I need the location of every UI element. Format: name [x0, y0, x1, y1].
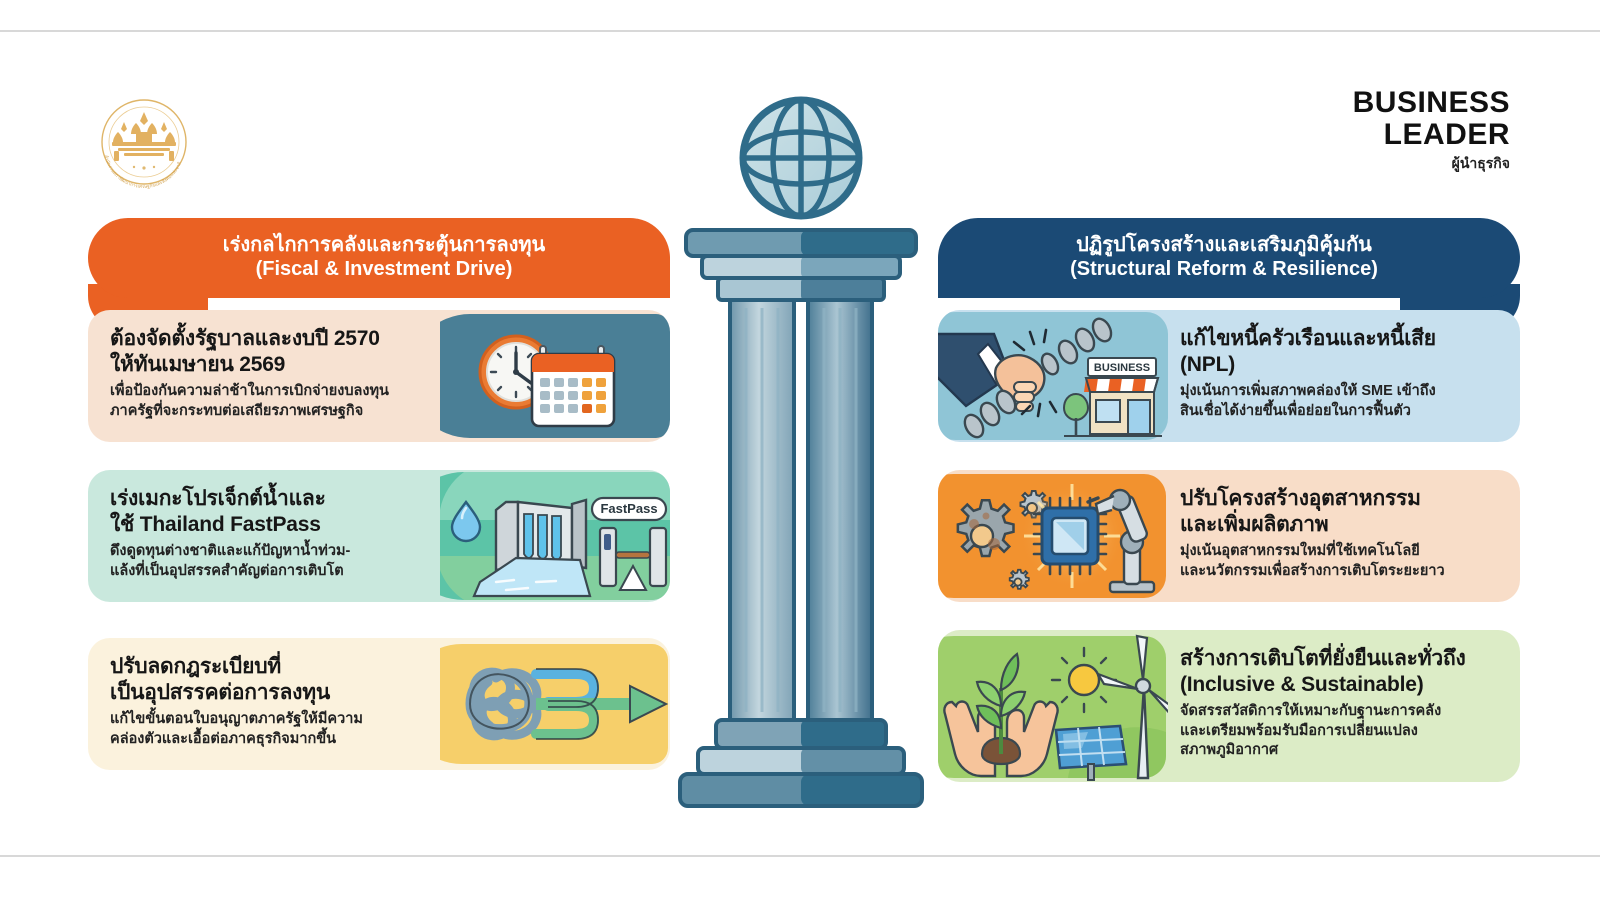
card-title: ต้องจัดตั้งรัฐบาลและงบปี 2570ให้ทันเมษาย… [110, 326, 422, 377]
card-text-block: ต้องจัดตั้งรัฐบาลและงบปี 2570ให้ทันเมษาย… [88, 310, 440, 442]
brand-lockup: BUSINESS LEADER ผู้นำธุรกิจ [1353, 88, 1510, 170]
dam-fastpass-illustration: FastPass [440, 470, 670, 602]
card-body: จัดสรรสวัสดิการให้เหมาะกับฐานะการคลังและ… [1180, 702, 1494, 760]
fastpass-label: FastPass [600, 501, 657, 516]
card-body: แก้ไขขั้นตอนใบอนุญาตภาครัฐให้มีความคล่อง… [110, 710, 422, 749]
brand-line-1: BUSINESS [1353, 88, 1510, 118]
top-divider [0, 30, 1600, 32]
card-title: แก้ไขหนี้ครัวเรือนและหนี้เสีย(NPL) [1180, 326, 1494, 377]
clock-calendar-illustration [440, 310, 670, 442]
globe-icon [743, 100, 859, 216]
card-title: ปรับโครงสร้างอุตสาหกรรมและเพิ่มผลิตภาพ [1180, 486, 1494, 537]
card-body: เพื่อป้องกันความล่าช้าในการเบิกจ่ายงบลงท… [110, 382, 422, 421]
card-right-industry-productivity[interactable]: ปรับโครงสร้างอุตสาหกรรมและเพิ่มผลิตภาพ ม… [938, 470, 1520, 602]
card-body: ดึงดูดทุนต่างชาติและแก้ปัญหาน้ำท่วม-แล้ง… [110, 542, 422, 581]
banner-left-english: (Fiscal & Investment Drive) [223, 258, 545, 282]
banner-right-thai: ปฏิรูปโครงสร้างและเสริมภูมิคุ้มกัน [1070, 234, 1378, 258]
card-left-deregulation[interactable]: ปรับลดกฎระเบียบที่เป็นอุปสรรคต่อการลงทุน… [88, 638, 670, 770]
card-left-budget-deadline[interactable]: ต้องจัดตั้งรัฐบาลและงบปี 2570ให้ทันเมษาย… [88, 310, 670, 442]
business-label: BUSINESS [1094, 362, 1150, 374]
card-body: มุ่งเน้นการเพิ่มสภาพคล่องให้ SME เข้าถึง… [1180, 382, 1494, 421]
card-title: ปรับลดกฎระเบียบที่เป็นอุปสรรคต่อการลงทุน [110, 654, 422, 705]
card-text-block: แก้ไขหนี้ครัวเรือนและหนี้เสีย(NPL) มุ่งเ… [1168, 310, 1520, 442]
card-right-inclusive-sustainable[interactable]: สร้างการเติบโตที่ยั่งยืนและทั่วถึง(Inclu… [938, 630, 1520, 782]
plant-hands-solar-wind-illustration [938, 630, 1168, 782]
infographic-canvas: สำนักงานสภาพัฒนาการเศรษฐกิจและสังคมแห่งช… [0, 0, 1600, 900]
central-pillar-graphic [646, 90, 956, 820]
card-text-block: เร่งเมกะโปรเจ็กต์น้ำและใช้ Thailand Fast… [88, 470, 440, 602]
banner-structural-reform-resilience[interactable]: ปฏิรูปโครงสร้างและเสริมภูมิคุ้มกัน (Stru… [938, 218, 1520, 298]
card-body: มุ่งเน้นอุตสาหกรรมใหม่ที่ใช้เทคโนโลยีและ… [1180, 542, 1494, 581]
brand-thai-subtitle: ผู้นำธุรกิจ [1353, 156, 1510, 170]
banner-left-thai: เร่งกลไกการคลังและกระตุ้นการลงทุน [223, 234, 545, 258]
banner-right-english: (Structural Reform & Resilience) [1070, 258, 1378, 282]
bottom-divider [0, 855, 1600, 857]
gear-icon-small-bottom [1010, 570, 1029, 589]
calendar-icon [532, 346, 614, 426]
gears-chip-robot-arm-illustration [938, 470, 1168, 602]
card-left-water-fastpass[interactable]: เร่งเมกะโปรเจ็กต์น้ำและใช้ Thailand Fast… [88, 470, 670, 602]
card-text-block: ปรับลดกฎระเบียบที่เป็นอุปสรรคต่อการลงทุน… [88, 638, 440, 770]
card-title: สร้างการเติบโตที่ยั่งยืนและทั่วถึง(Inclu… [1180, 646, 1494, 697]
card-right-household-debt-npl[interactable]: BUSINESS [938, 310, 1520, 442]
tangled-knot-arrow-illustration [440, 638, 670, 770]
banner-fiscal-investment-drive[interactable]: เร่งกลไกการคลังและกระตุ้นการลงทุน (Fisca… [88, 218, 670, 298]
card-title: เร่งเมกะโปรเจ็กต์น้ำและใช้ Thailand Fast… [110, 486, 422, 537]
gear-icon-large [958, 500, 1014, 556]
card-text-block: ปรับโครงสร้างอุตสาหกรรมและเพิ่มผลิตภาพ ม… [1168, 470, 1520, 602]
hand-breaking-chain-illustration: BUSINESS [938, 310, 1168, 442]
thai-royal-emblem-seal-icon: สำนักงานสภาพัฒนาการเศรษฐกิจและสังคมแห่งช… [88, 92, 200, 196]
card-text-block: สร้างการเติบโตที่ยั่งยืนและทั่วถึง(Inclu… [1168, 630, 1520, 782]
brand-line-2: LEADER [1353, 120, 1510, 150]
